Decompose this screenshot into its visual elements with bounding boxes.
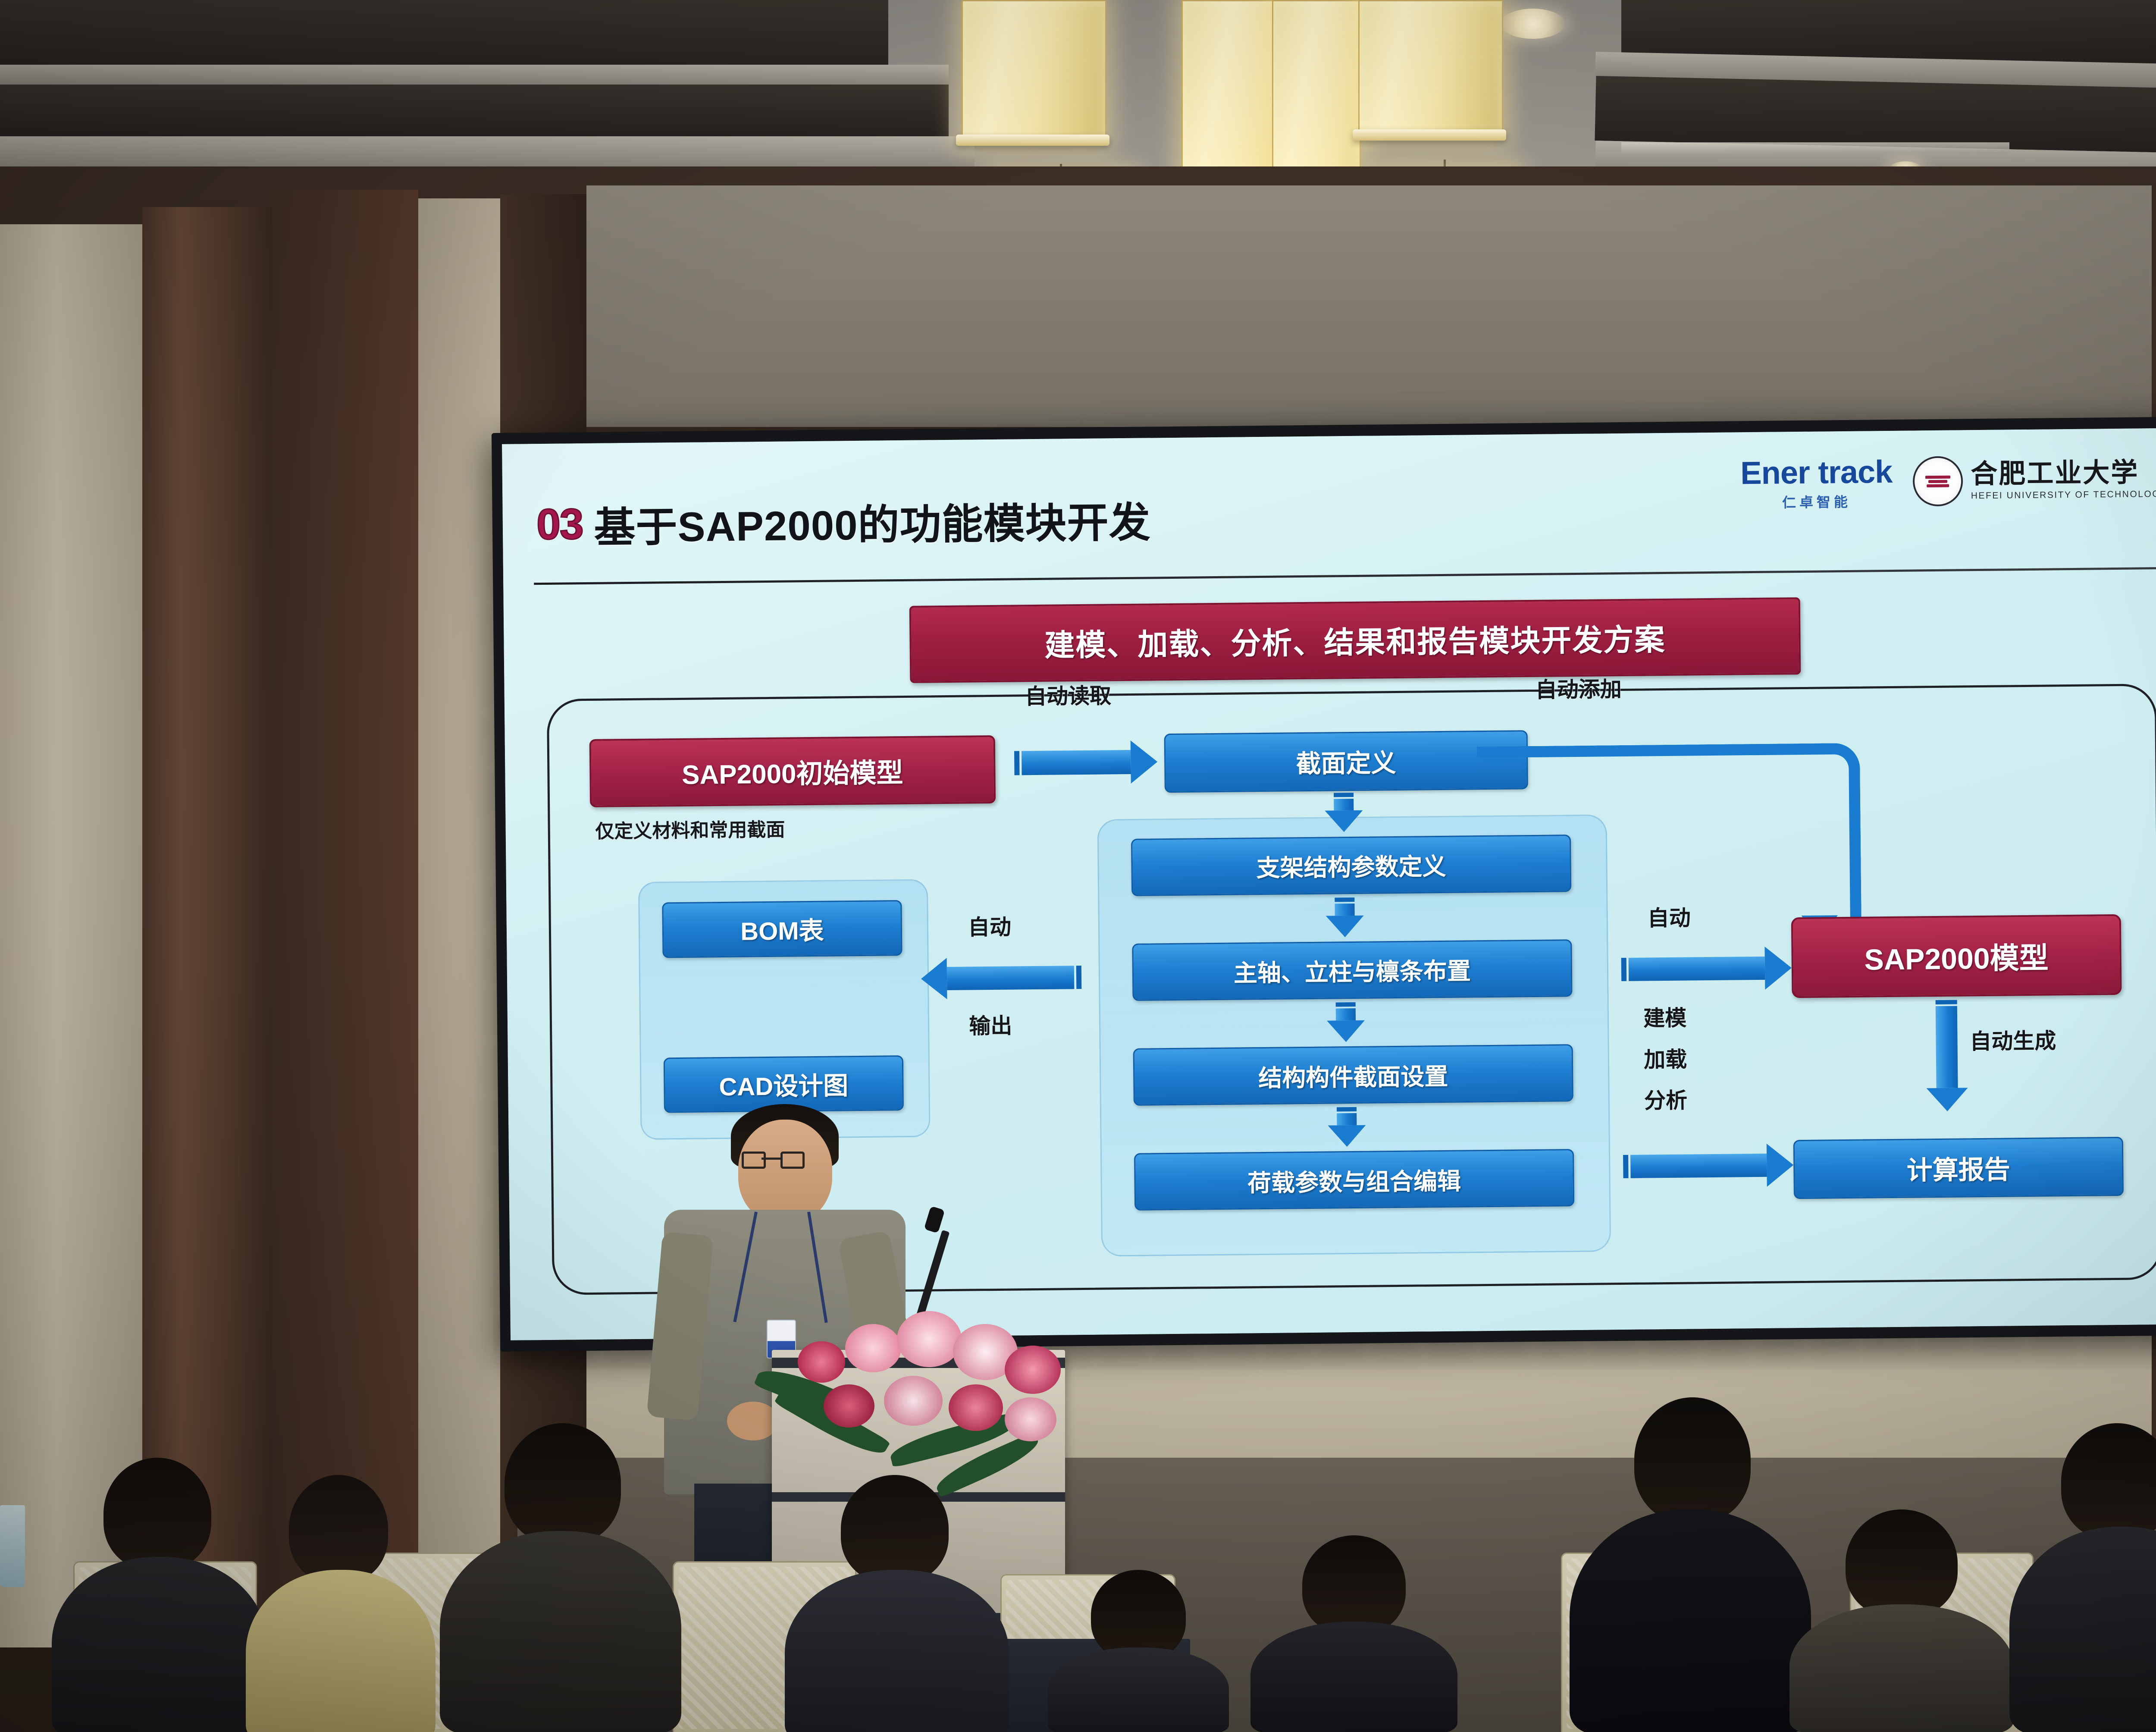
glasses-bridge-icon xyxy=(761,1158,780,1160)
edge-label-auto-read: 自动读取 xyxy=(1025,678,1112,710)
audience-member-10 xyxy=(1048,1570,1229,1732)
university-name-cn: 合肥工业大学 xyxy=(1971,459,2156,488)
flow-node-member-section[interactable]: 结构构件截面设置 xyxy=(1133,1044,1573,1106)
ceiling-beam-left xyxy=(0,65,949,85)
presenter-head xyxy=(738,1120,832,1223)
ceiling-beam-left2 xyxy=(0,136,975,166)
enertrack-wordmark: Ener track xyxy=(1740,453,1893,491)
pendant-lamp-5 xyxy=(1358,0,1501,155)
wall-panel-wood-left xyxy=(142,207,272,1665)
edge-arrow-auto-generate xyxy=(1936,998,1959,1111)
flow-node-init-model-caption: 仅定义材料和常用截面 xyxy=(595,814,785,844)
logo-group: Ener track 仁卓智能 合肥工业大学 HEFEI UNIVERSITY … xyxy=(1740,451,2156,512)
edge-label-load: 加载 xyxy=(1644,1048,1687,1071)
glasses-right-icon xyxy=(780,1152,805,1169)
university-name-en: HEFEI UNIVERSITY OF TECHNOLOGY xyxy=(1971,489,2156,501)
flow-node-sap-model[interactable]: SAP2000模型 xyxy=(1791,914,2122,998)
edge-arrow-auto-right xyxy=(1619,956,1792,981)
edge-label-auto-generate: 自动生成 xyxy=(1970,1023,2056,1055)
section-banner-label: 建模、加载、分析、结果和报告模块开发方案 xyxy=(1044,615,1666,665)
university-seal-icon xyxy=(1913,456,1963,507)
wall-above-screen xyxy=(586,185,2152,427)
flow-node-bracket-param[interactable]: 支架结构参数定义 xyxy=(1131,835,1571,896)
flow-node-calc-report[interactable]: 计算报告 xyxy=(1793,1136,2124,1199)
edge-arrow-auto-read xyxy=(1012,750,1158,775)
edge-arrow-output-left xyxy=(921,966,1084,991)
ceiling-recess-left xyxy=(0,0,888,73)
edge-arrow-down-2 xyxy=(1335,896,1355,937)
page-title: 基于SAP2000的功能模块开发 xyxy=(594,489,1151,554)
section-number: 03 xyxy=(536,502,583,546)
audience-member-2 xyxy=(241,1475,440,1732)
audience-member-7 xyxy=(2009,1423,2156,1732)
audience-member-5 xyxy=(1570,1397,1811,1732)
wall-panel-beige-left xyxy=(0,224,142,1647)
ceiling-recess-left2 xyxy=(0,85,949,136)
wall-panel-wood-left2 xyxy=(272,190,418,1665)
water-bottle-2 xyxy=(0,1505,25,1587)
hfut-logo: 合肥工业大学 HEFEI UNIVERSITY OF TECHNOLOGY xyxy=(1913,454,2156,507)
edge-label-analyze: 分析 xyxy=(1644,1089,1688,1113)
edge-arrow-to-report xyxy=(1621,1153,1793,1178)
edge-label-model: 建模 xyxy=(1643,1006,1687,1030)
edge-arrow-down-4 xyxy=(1337,1105,1357,1147)
edge-label-output: 输出 xyxy=(969,1008,1012,1040)
edge-label-auto-left: 自动 xyxy=(968,910,1012,941)
edge-label-auto-right: 自动 xyxy=(1647,901,1691,932)
section-banner: 建模、加载、分析、结果和报告模块开发方案 xyxy=(909,597,1801,683)
audience-member-1 xyxy=(47,1458,272,1732)
edge-arrow-down-1 xyxy=(1334,791,1354,832)
downlight-icon-4 xyxy=(1501,9,1565,39)
audience-member-4 xyxy=(785,1475,1009,1732)
flow-node-load-combo[interactable]: 荷载参数与组合编辑 xyxy=(1134,1149,1574,1211)
edge-arrow-down-3 xyxy=(1335,1001,1356,1042)
audience-member-6 xyxy=(1789,1509,2014,1732)
flow-node-section-def[interactable]: 截面定义 xyxy=(1164,730,1528,793)
enertrack-logo: Ener track 仁卓智能 xyxy=(1740,453,1893,512)
audience-member-3 xyxy=(440,1423,681,1732)
flow-node-bom-table[interactable]: BOM表 xyxy=(662,900,903,958)
conference-photo-scene: 03 基于SAP2000的功能模块开发 Ener track 仁卓智能 合 xyxy=(0,0,2156,1732)
audience-member-9 xyxy=(1250,1535,1457,1732)
ceiling-light-strip xyxy=(1621,142,2009,154)
glasses-left-icon xyxy=(742,1152,766,1169)
pendant-lamp-1 xyxy=(962,0,1104,164)
flow-node-init-model[interactable]: SAP2000初始模型 xyxy=(589,735,996,807)
flow-node-axis-layout[interactable]: 主轴、立柱与檩条布置 xyxy=(1132,939,1572,1001)
enertrack-wordmark-cn: 仁卓智能 xyxy=(1782,491,1851,512)
edge-label-auto-add: 自动添加 xyxy=(1536,672,1622,704)
